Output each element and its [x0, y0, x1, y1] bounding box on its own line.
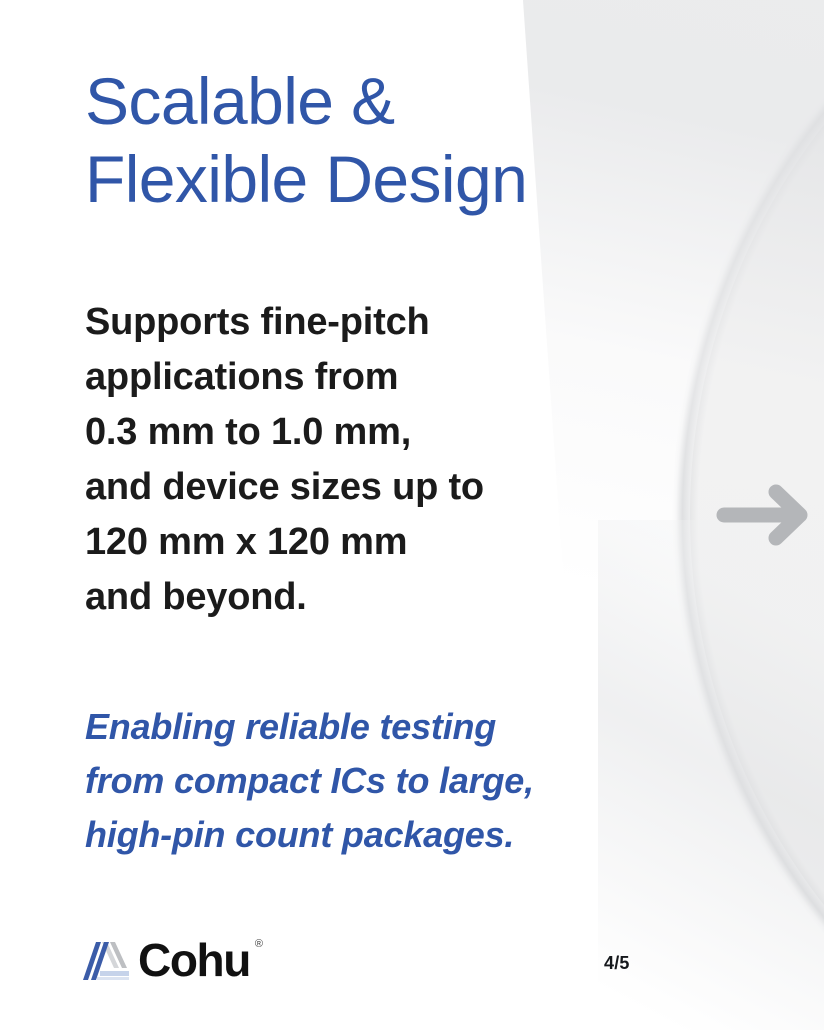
tagline-paragraph: Enabling reliable testing from compact I… — [85, 700, 534, 862]
slide-content: Scalable & Flexible Design Supports fine… — [85, 0, 705, 1030]
page-title: Scalable & Flexible Design — [85, 62, 527, 218]
next-slide-button[interactable] — [716, 484, 816, 546]
logo-wordmark: Cohu ® — [138, 937, 250, 983]
cohu-diagonal-bars-icon — [80, 939, 132, 981]
registered-trademark-icon: ® — [255, 939, 263, 950]
cohu-logo: Cohu ® — [80, 936, 250, 984]
body-paragraph: Supports fine-pitch applications from 0.… — [85, 295, 484, 625]
logo-wordmark-text: Cohu — [138, 934, 250, 986]
slide-canvas: Scalable & Flexible Design Supports fine… — [0, 0, 824, 1030]
arrow-right-icon — [716, 484, 816, 546]
page-indicator: 4/5 — [604, 953, 630, 973]
